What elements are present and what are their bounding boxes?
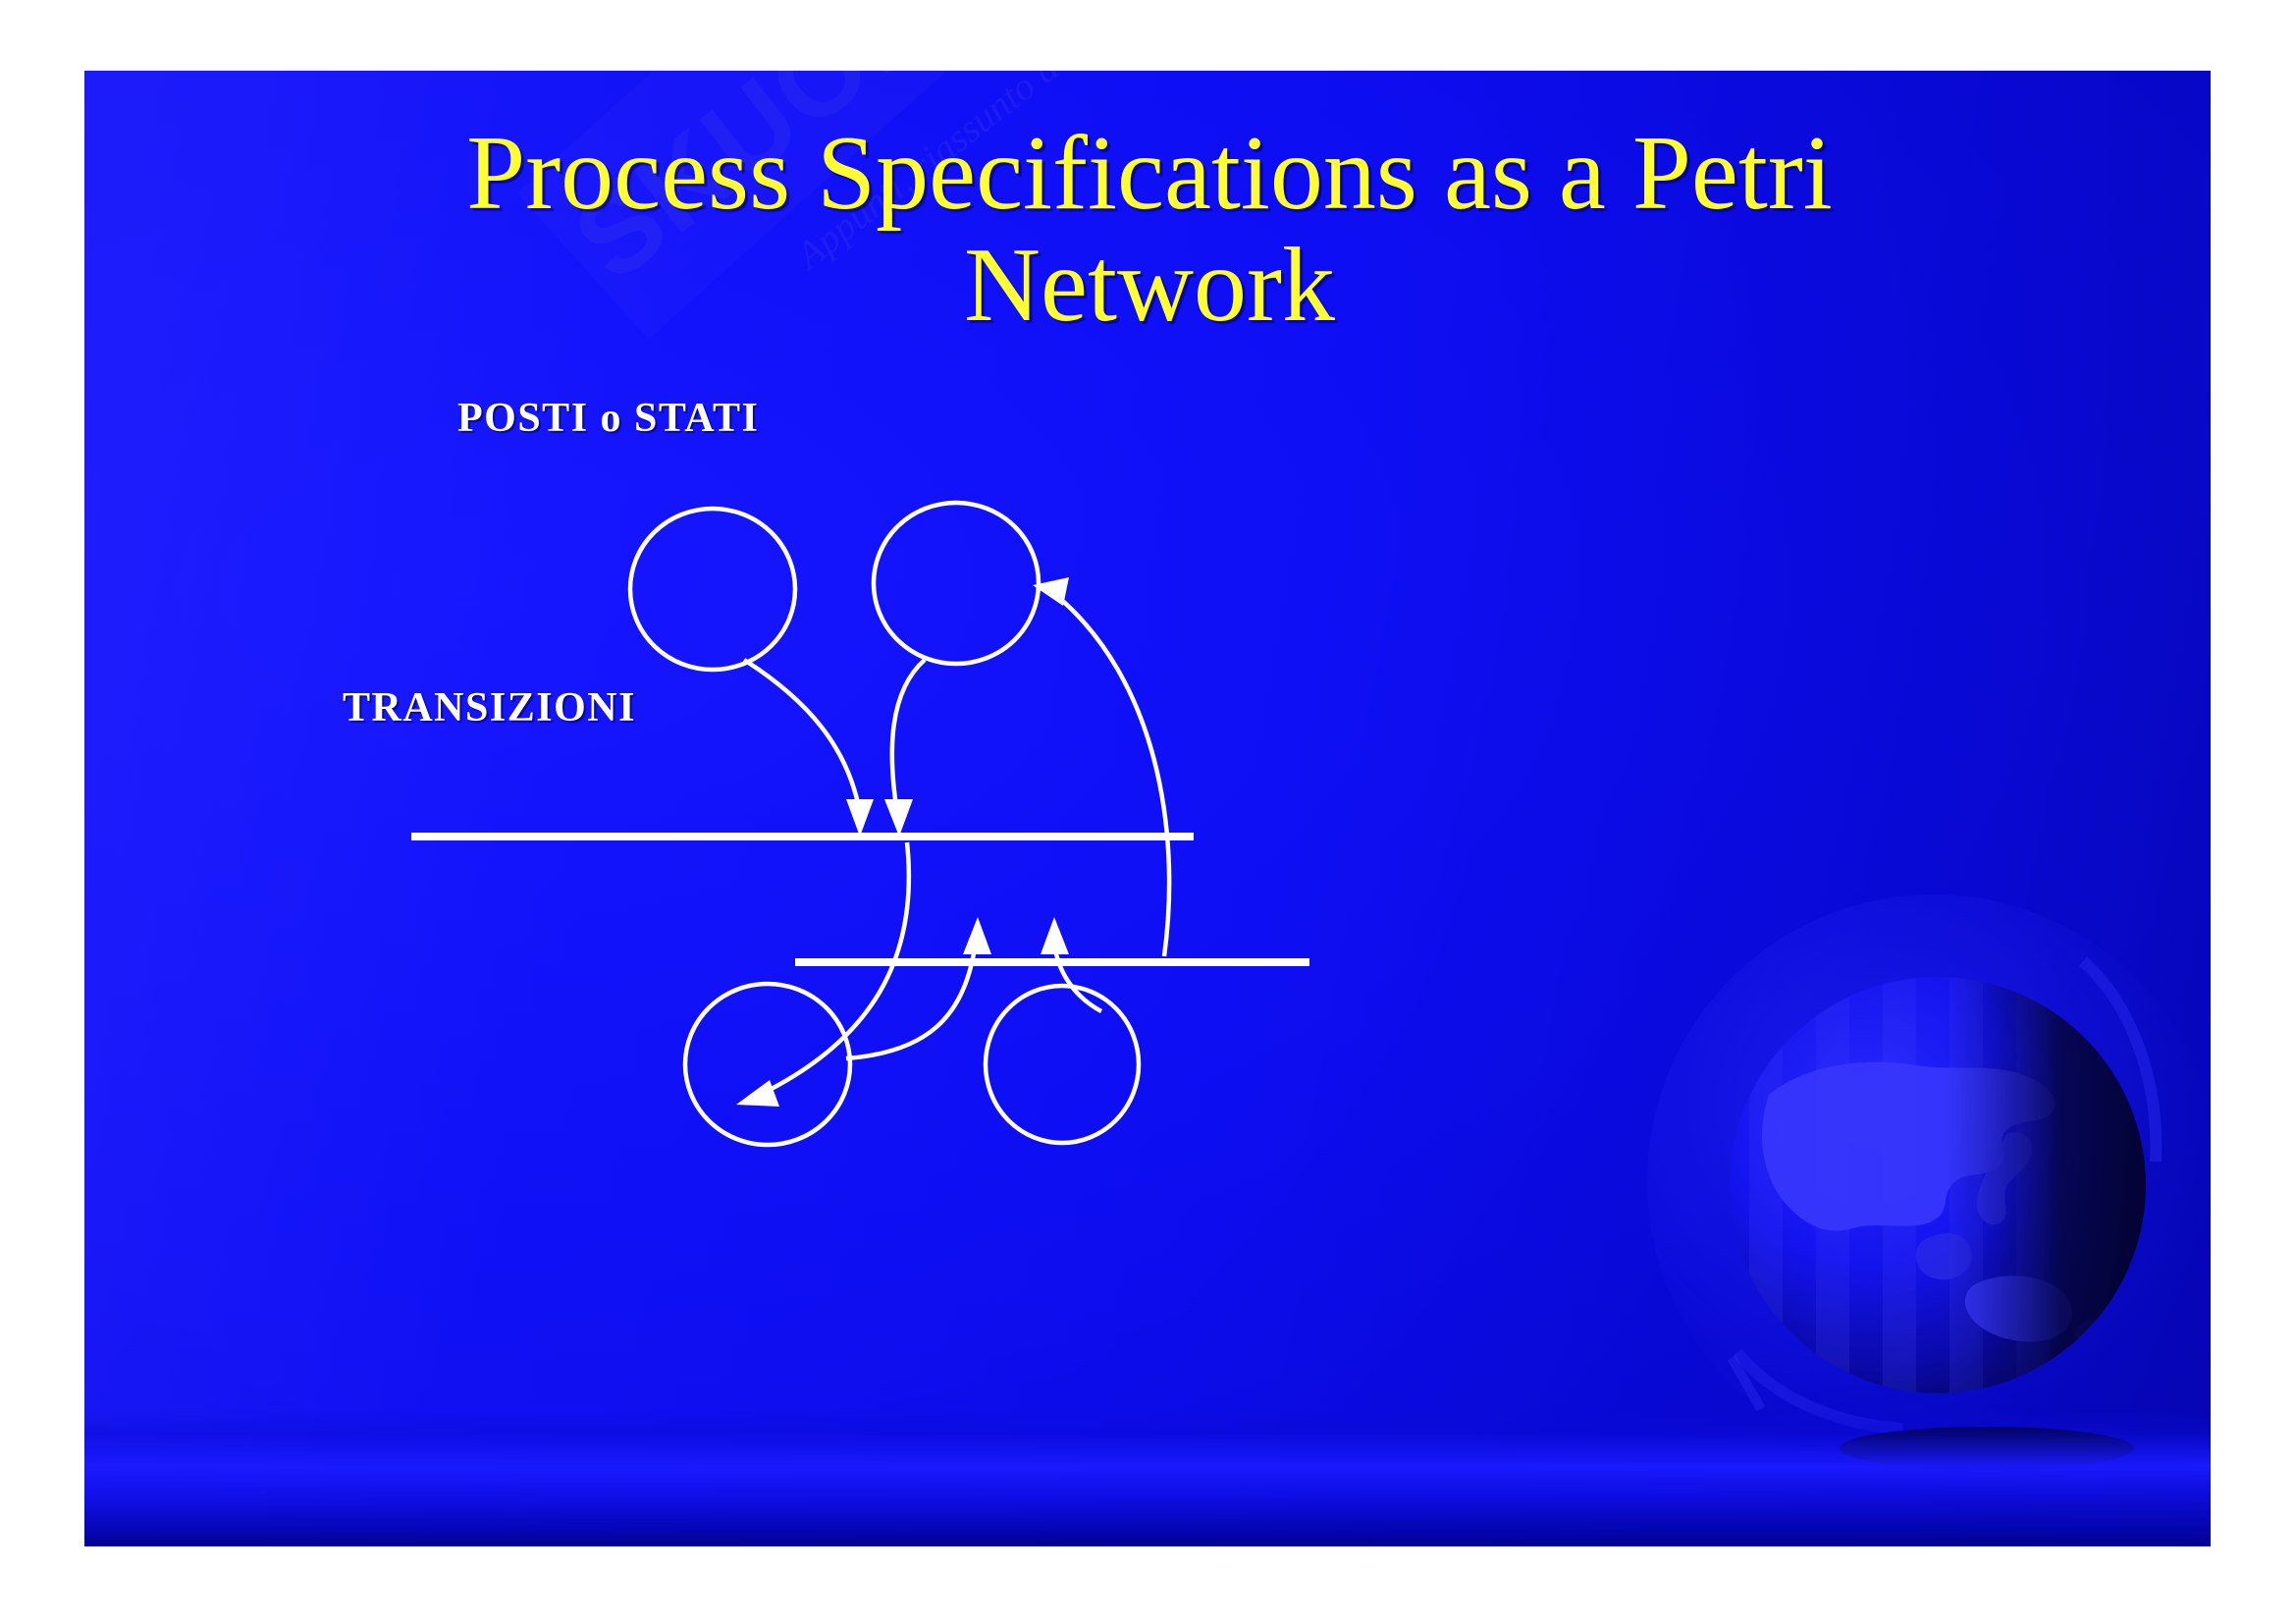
arc-p2-to-t1	[884, 660, 925, 837]
page-root: SKUOLA .net Appunti, riassunto della tes…	[0, 0, 2296, 1623]
petri-net-diagram	[84, 71, 2211, 1546]
place-p1[interactable]	[630, 509, 795, 670]
presentation-slide: SKUOLA .net Appunti, riassunto della tes…	[84, 71, 2211, 1546]
place-p2[interactable]	[874, 503, 1039, 664]
arc-t2-to-p2	[1033, 577, 1169, 956]
arc-p3-to-t2	[846, 917, 991, 1058]
arc-t1-to-p3	[736, 842, 909, 1107]
place-p3[interactable]	[685, 984, 850, 1145]
place-p4[interactable]	[986, 986, 1139, 1143]
arc-p1-to-t1	[744, 660, 874, 837]
